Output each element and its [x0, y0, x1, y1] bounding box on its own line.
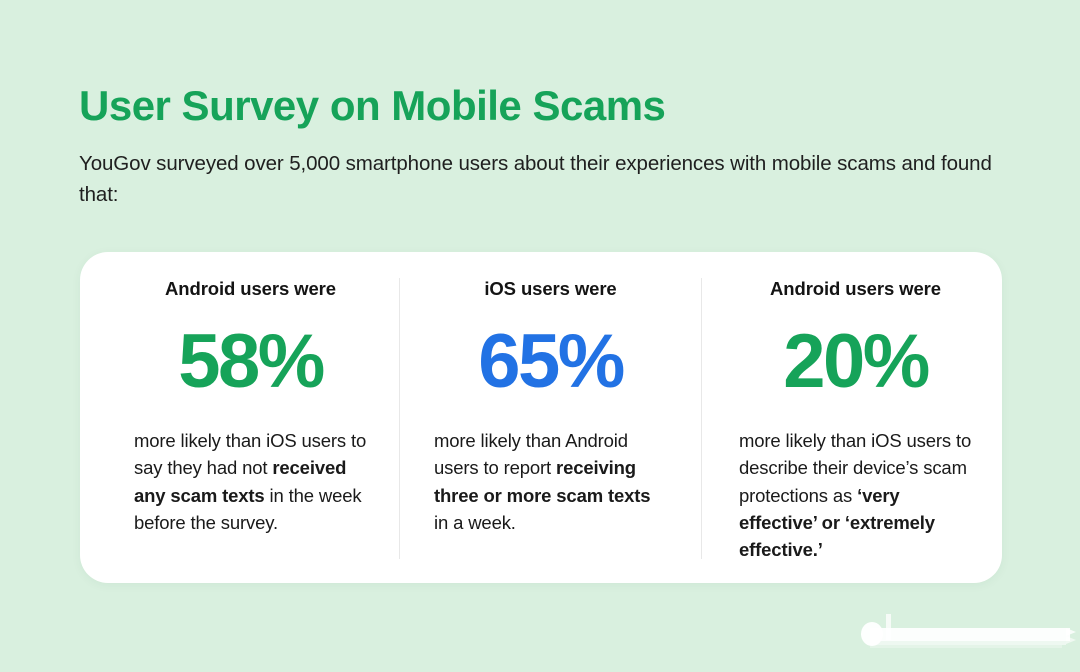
stat-value: 20% [739, 300, 972, 400]
stat-description: more likely than Android users to report… [434, 400, 667, 536]
header: User Survey on Mobile Scams YouGov surve… [79, 82, 1009, 210]
stat-column-android-20: Android users were 20% more likely than … [701, 278, 1002, 559]
stat-description: more likely than iOS users to say they h… [134, 400, 367, 536]
stat-heading: Android users were [739, 278, 972, 300]
stat-value: 58% [134, 300, 367, 400]
page-subtitle: YouGov surveyed over 5,000 smartphone us… [79, 129, 1004, 210]
stat-description: more likely than iOS users to describe t… [739, 400, 972, 563]
stats-card: Android users were 58% more likely than … [80, 252, 1002, 583]
stat-column-android-58: Android users were 58% more likely than … [80, 278, 399, 559]
partial-graphic-edge-icon [840, 608, 1080, 666]
stat-column-ios-65: iOS users were 65% more likely than Andr… [399, 278, 701, 559]
stat-heading: Android users were [134, 278, 367, 300]
slide-canvas: User Survey on Mobile Scams YouGov surve… [0, 0, 1080, 672]
page-title: User Survey on Mobile Scams [79, 82, 1009, 129]
stat-heading: iOS users were [434, 278, 667, 300]
stat-value: 65% [434, 300, 667, 400]
